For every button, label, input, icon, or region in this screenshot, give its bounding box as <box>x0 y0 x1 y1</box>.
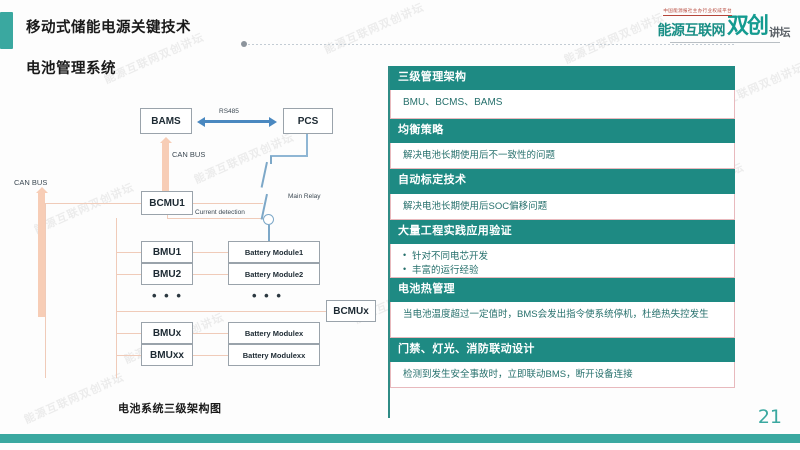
page-title-primary: 移动式储能电源关键技术 <box>26 16 191 37</box>
can-bus-arrow-left <box>38 192 45 317</box>
label-can-bus-left: CAN BUS <box>14 178 47 187</box>
panel-row-body-bullets: 针对不同电芯开发 丰富的运行经验 <box>390 244 735 278</box>
brand-underline <box>670 42 780 43</box>
slide-canvas: 能源互联网双创讲坛 能源互联网双创讲坛 能源互联网双创讲坛 能源互联网双创讲坛 … <box>0 0 800 450</box>
footer-bar <box>0 434 800 443</box>
diagram-box-bams: BAMS <box>140 108 192 134</box>
panel-row-body: 解决电池长期使用后SOC偏移问题 <box>390 194 735 220</box>
bus-stub-bmux <box>116 333 141 334</box>
diagram-box-battery-modulex: Battery Modulex <box>228 322 320 344</box>
relay-line-lower <box>268 225 270 241</box>
brand-name-part1: 能源互联网 <box>657 20 725 40</box>
current-sensor-icon <box>263 214 274 225</box>
bus-stub-bmu1 <box>116 252 141 253</box>
diagram-box-bmux: BMUx <box>141 322 193 344</box>
ellipsis-bmu: • • • <box>152 288 183 303</box>
connector-canbus-to-bcmu1 <box>44 203 141 204</box>
connector-current-detection-stub <box>167 215 168 219</box>
bullet-list: 针对不同电芯开发 丰富的运行经验 <box>403 250 726 279</box>
page-number: 21 <box>758 406 782 428</box>
diagram-box-bmuxx: BMUxx <box>141 344 193 366</box>
pcs-bend-line <box>270 155 308 157</box>
panel-row-header: 自动标定技术 <box>390 169 735 193</box>
page-title-secondary: 电池管理系统 <box>26 57 116 78</box>
battery-architecture-diagram: BAMS PCS RS485 CAN BUS CAN BUS BCMU1 Cur… <box>0 90 385 425</box>
diagram-box-bcmu1: BCMU1 <box>141 191 193 215</box>
diagram-box-battery-module1: Battery Module1 <box>228 241 320 263</box>
panel-row-header: 均衡策略 <box>390 119 735 143</box>
brand-name-part2: 双创 <box>727 8 767 40</box>
watermark: 能源互联网双创讲坛 <box>101 29 206 88</box>
diagram-caption: 电池系统三级架构图 <box>118 400 222 416</box>
connector-current-detection <box>167 218 263 219</box>
bullet-item: 丰富的运行经验 <box>403 264 726 278</box>
panel-row-header: 门禁、灯光、消防联动设计 <box>390 338 735 362</box>
panel-row-body: BMU、BCMS、BAMS <box>390 90 735 119</box>
brand-name-part3: 讲坛 <box>769 24 790 40</box>
bus-vertical-outer <box>45 203 46 378</box>
panel-row-header: 大量工程实践应用验证 <box>390 220 735 244</box>
connector-bmuxx-modulexx <box>193 355 228 356</box>
relay-switch-blade-1 <box>261 162 268 188</box>
panel-row-body: 解决电池长期使用后不一致性的问题 <box>390 143 735 169</box>
label-rs485: RS485 <box>219 108 239 115</box>
bus-vertical-left <box>116 218 117 378</box>
watermark: 能源互联网双创讲坛 <box>321 0 426 57</box>
panel-row-body: 检测到发生安全事故时，立即联动BMS，断开设备连接 <box>390 362 735 388</box>
divider-dot <box>241 41 247 47</box>
can-bus-arrow-center <box>162 142 169 192</box>
diagram-box-battery-modulexx: Battery Modulexx <box>228 344 320 366</box>
label-current-detection: Current detection <box>195 209 245 216</box>
panel-row-header: 电池热管理 <box>390 278 735 302</box>
label-main-relay: Main Relay <box>288 193 321 200</box>
diagram-box-bmu1: BMU1 <box>141 241 193 263</box>
connector-bmu1-module1 <box>193 252 228 253</box>
key-technologies-panel: 三级管理架构 BMU、BCMS、BAMS 均衡策略 解决电池长期使用后不一致性的… <box>390 66 735 388</box>
bullet-item: 针对不同电芯开发 <box>403 250 726 264</box>
label-can-bus-top: CAN BUS <box>172 150 205 159</box>
watermark: 能源互联网双创讲坛 <box>561 9 666 68</box>
connector-bus-to-bcmux <box>116 311 326 312</box>
title-accent-bar <box>0 12 13 49</box>
connector-bmu2-module2 <box>193 274 228 275</box>
diagram-box-bcmux: BCMUx <box>326 300 376 322</box>
connector-bcmu1-to-relay <box>193 203 263 204</box>
connector-bmux-modulex <box>193 333 228 334</box>
ellipsis-module: • • • <box>252 288 283 303</box>
brand-logo: 中国能源报社主办行业权威平台 能源互联网 双创 讲坛 <box>657 10 790 40</box>
diagram-box-battery-module2: Battery Module2 <box>228 263 320 285</box>
rs485-connector <box>204 120 270 123</box>
relay-line-upper <box>270 156 272 164</box>
panel-row-header: 三级管理架构 <box>390 66 735 90</box>
bus-stub-bmu2 <box>116 274 141 275</box>
brand-tagline: 中国能源报社主办行业权威平台 <box>663 8 732 16</box>
pcs-down-line <box>306 134 308 156</box>
diagram-box-pcs: PCS <box>283 108 333 134</box>
bus-stub-bmuxx <box>116 355 141 356</box>
panel-row-body: 当电池温度超过一定值时，BMS会发出指令使系统停机，杜绝热失控发生 <box>390 302 735 338</box>
diagram-box-bmu2: BMU2 <box>141 263 193 285</box>
header-dotted-divider <box>248 44 736 45</box>
